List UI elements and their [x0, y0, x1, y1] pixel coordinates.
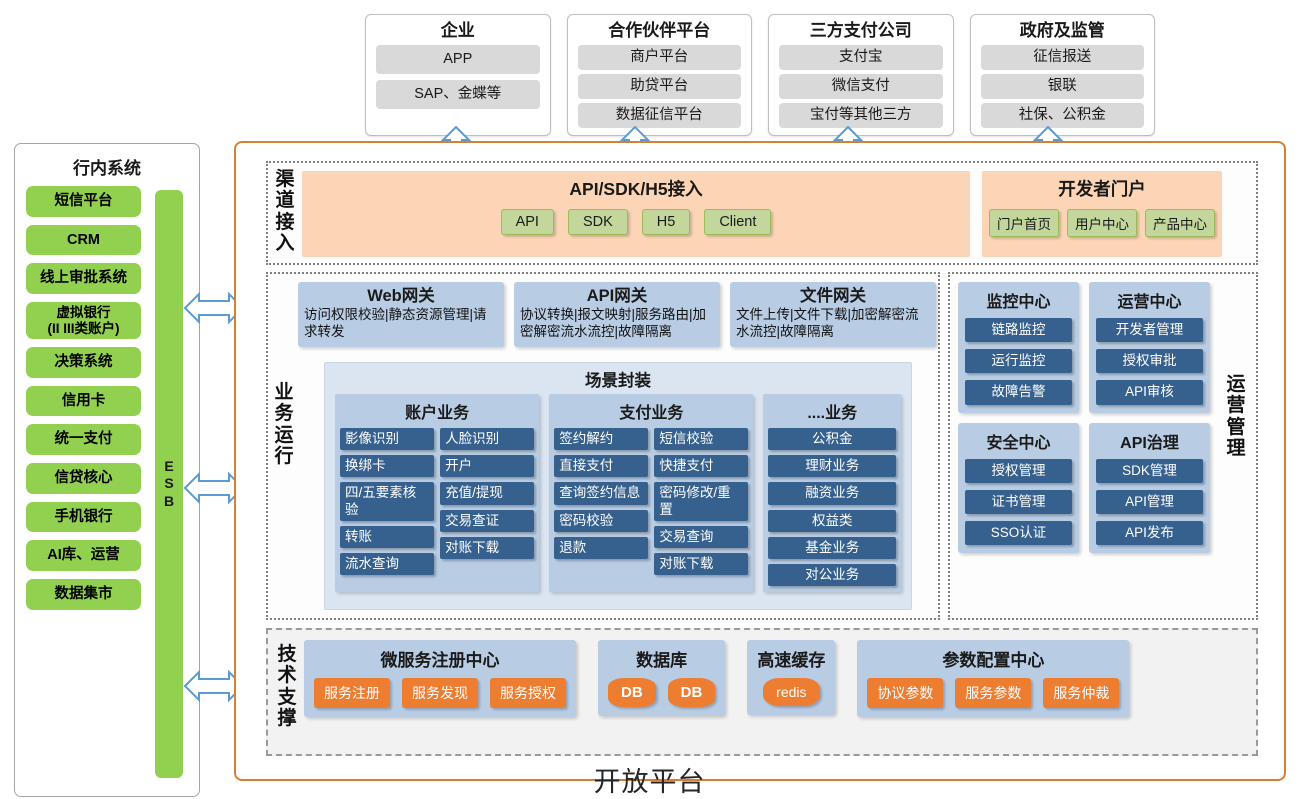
- external-system-box: 企业APPSAP、金蝶等: [365, 14, 551, 136]
- tech-chip[interactable]: 服务发现: [402, 678, 478, 708]
- bank-system-item[interactable]: 信用卡: [26, 386, 141, 417]
- scene-chip[interactable]: 密码修改/重置: [654, 482, 748, 520]
- external-system-item[interactable]: 助贷平台: [578, 74, 742, 99]
- bank-system-item[interactable]: 线上审批系统: [26, 263, 141, 294]
- scene-chip[interactable]: 对账下载: [440, 537, 534, 559]
- technical-support-row: 微服务注册中心服务注册服务发现服务授权数据库DBDB高速缓存redis参数配置中…: [304, 640, 1248, 717]
- external-system-box: 政府及监管征信报送银联社保、公积金: [970, 14, 1156, 136]
- operations-chip[interactable]: API发布: [1096, 521, 1203, 545]
- scene-column: ....业务公积金理财业务融资业务权益类基金业务对公业务: [763, 394, 901, 592]
- portal-chip[interactable]: 用户中心: [1067, 209, 1137, 237]
- external-system-item[interactable]: 宝付等其他三方: [779, 103, 943, 128]
- scene-encapsulation-title: 场景封装: [325, 363, 911, 394]
- scene-chip[interactable]: 查询签约信息: [554, 482, 648, 504]
- esb-letter: B: [164, 493, 174, 511]
- gateway-title: API网关: [520, 286, 714, 307]
- tech-chip[interactable]: 服务参数: [955, 678, 1031, 708]
- tech-chip-row: 服务注册服务发现服务授权: [314, 678, 566, 708]
- api-access-title: API/SDK/H5接入: [302, 171, 970, 201]
- gateway-row: Web网关访问权限校验|静态资源管理|请求转发API网关协议转换|报文映射|服务…: [298, 282, 936, 347]
- in-bank-systems-panel: 行内系统 短信平台CRM线上审批系统虚拟银行(II III类账户)决策系统信用卡…: [14, 143, 200, 797]
- scene-column-title: 支付业务: [554, 397, 748, 428]
- developer-portal-title: 开发者门户: [982, 171, 1222, 201]
- tech-chip[interactable]: 服务授权: [490, 678, 566, 708]
- operations-chip[interactable]: 运行监控: [965, 349, 1072, 373]
- scene-chip[interactable]: 直接支付: [554, 455, 648, 477]
- scene-chip-grid: 公积金理财业务融资业务权益类基金业务对公业务: [768, 428, 896, 586]
- tech-chip[interactable]: 协议参数: [867, 678, 943, 708]
- tech-card: 高速缓存redis: [747, 640, 835, 715]
- gateway-description: 协议转换|报文映射|服务路由|加密解密流水流控|故障隔离: [520, 307, 714, 341]
- in-bank-systems-list: 短信平台CRM线上审批系统虚拟银行(II III类账户)决策系统信用卡统一支付信…: [26, 186, 141, 618]
- external-system-item[interactable]: 微信支付: [779, 74, 943, 99]
- tech-card: 参数配置中心协议参数服务参数服务仲裁: [857, 640, 1129, 717]
- scene-chip[interactable]: 流水查询: [340, 553, 434, 575]
- developer-portal-chip-row: 门户首页用户中心产品中心: [982, 209, 1222, 237]
- operations-management-label: 运营管理: [1223, 374, 1249, 459]
- bank-system-item[interactable]: AI库、运营: [26, 540, 141, 571]
- scene-chip[interactable]: 交易查证: [440, 510, 534, 532]
- access-chip[interactable]: SDK: [568, 209, 628, 235]
- scene-chip[interactable]: 密码校验: [554, 510, 648, 532]
- scene-chip-col: 人脸识别开户充值/提现交易查证对账下载: [440, 428, 534, 575]
- operations-cards-grid: 监控中心链路监控运行监控故障告警运营中心开发者管理授权审批API审核安全中心授权…: [958, 282, 1210, 553]
- operations-chip[interactable]: API审核: [1096, 380, 1203, 404]
- in-bank-systems-title: 行内系统: [15, 154, 199, 179]
- scene-column-title: 账户业务: [340, 397, 534, 428]
- esb-letter: S: [164, 475, 173, 493]
- operations-management-section: 运营管理 监控中心链路监控运行监控故障告警运营中心开发者管理授权审批API审核安…: [948, 272, 1258, 620]
- operations-card-title: 运营中心: [1096, 286, 1203, 318]
- scene-chip[interactable]: 基金业务: [768, 537, 896, 559]
- tech-card-title: 微服务注册中心: [314, 644, 566, 678]
- tech-chip[interactable]: 服务仲裁: [1043, 678, 1119, 708]
- scene-column-title: ....业务: [768, 397, 896, 428]
- scene-encapsulation-card: 场景封装 账户业务影像识别换绑卡四/五要素核验转账流水查询人脸识别开户充值/提现…: [324, 362, 912, 610]
- api-sdk-h5-access-card: API/SDK/H5接入 APISDKH5Client: [302, 171, 970, 257]
- bank-system-item[interactable]: 手机银行: [26, 502, 141, 533]
- external-system-item[interactable]: 社保、公积金: [981, 103, 1145, 128]
- gateway-title: Web网关: [304, 286, 498, 307]
- external-system-item[interactable]: APP: [376, 45, 540, 74]
- scene-chip[interactable]: 充值/提现: [440, 482, 534, 504]
- channel-access-section: 渠道接入 API/SDK/H5接入 APISDKH5Client 开发者门户 门…: [266, 161, 1258, 265]
- operations-card: API治理SDK管理API管理API发布: [1089, 423, 1210, 554]
- bank-system-item[interactable]: 数据集市: [26, 579, 141, 610]
- operations-card-title: API治理: [1096, 427, 1203, 459]
- gateway-card[interactable]: 文件网关文件上传|文件下载|加密解密流水流控|故障隔离: [730, 282, 936, 347]
- external-system-item[interactable]: 支付宝: [779, 45, 943, 70]
- portal-chip[interactable]: 产品中心: [1145, 209, 1215, 237]
- tech-chip-row: DBDB: [608, 678, 715, 707]
- scene-columns: 账户业务影像识别换绑卡四/五要素核验转账流水查询人脸识别开户充值/提现交易查证对…: [325, 394, 911, 592]
- gateway-description: 访问权限校验|静态资源管理|请求转发: [304, 307, 498, 341]
- external-system-item[interactable]: 银联: [981, 74, 1145, 99]
- scene-chip[interactable]: 交易查询: [654, 526, 748, 548]
- scene-chip[interactable]: 对公业务: [768, 564, 896, 586]
- scene-chip[interactable]: 转账: [340, 526, 434, 548]
- esb-letter: E: [164, 458, 173, 476]
- operations-chip[interactable]: SSO认证: [965, 521, 1072, 545]
- bank-system-item[interactable]: 信贷核心: [26, 463, 141, 494]
- gateway-title: 文件网关: [736, 286, 930, 307]
- external-system-title: 企业: [376, 20, 540, 42]
- platform-title: 开放平台: [0, 760, 1299, 799]
- operations-chip[interactable]: 链路监控: [965, 318, 1072, 342]
- business-running-section: 业务运行 Web网关访问权限校验|静态资源管理|请求转发API网关协议转换|报文…: [266, 272, 940, 620]
- channel-access-label: 渠道接入: [272, 169, 298, 254]
- operations-chip[interactable]: 证书管理: [965, 490, 1072, 514]
- scene-chip[interactable]: 短信校验: [654, 428, 748, 450]
- access-chip[interactable]: H5: [642, 209, 691, 235]
- gateway-card[interactable]: Web网关访问权限校验|静态资源管理|请求转发: [298, 282, 504, 347]
- operations-chip[interactable]: 授权审批: [1096, 349, 1203, 373]
- scene-chip[interactable]: 换绑卡: [340, 455, 434, 477]
- external-system-title: 合作伙伴平台: [578, 20, 742, 42]
- external-system-box: 合作伙伴平台商户平台助贷平台数据征信平台: [567, 14, 753, 136]
- external-system-box: 三方支付公司支付宝微信支付宝付等其他三方: [768, 14, 954, 136]
- external-system-item[interactable]: 征信报送: [981, 45, 1145, 70]
- operations-card-title: 安全中心: [965, 427, 1072, 459]
- scene-column: 支付业务签约解约直接支付查询签约信息密码校验退款短信校验快捷支付密码修改/重置交…: [549, 394, 753, 592]
- tech-card-title: 高速缓存: [757, 644, 825, 678]
- scene-chip-col: 短信校验快捷支付密码修改/重置交易查询对账下载: [654, 428, 748, 575]
- external-system-item[interactable]: SAP、金蝶等: [376, 80, 540, 109]
- database-cylinder[interactable]: DB: [608, 678, 656, 707]
- scene-chip-col: 公积金理财业务融资业务权益类基金业务对公业务: [768, 428, 896, 586]
- technical-support-section: 技术支撑 微服务注册中心服务注册服务发现服务授权数据库DBDB高速缓存redis…: [266, 628, 1258, 756]
- technical-support-label: 技术支撑: [274, 644, 300, 729]
- external-system-item[interactable]: 数据征信平台: [578, 103, 742, 128]
- esb-bar: ESB: [155, 190, 183, 778]
- developer-portal-card: 开发者门户 门户首页用户中心产品中心: [982, 171, 1222, 257]
- tech-chip[interactable]: 服务注册: [314, 678, 390, 708]
- access-chip[interactable]: Client: [704, 209, 771, 235]
- scene-chip-col: 签约解约直接支付查询签约信息密码校验退款: [554, 428, 648, 575]
- bank-system-item[interactable]: 虚拟银行(II III类账户): [26, 302, 141, 339]
- operations-card: 监控中心链路监控运行监控故障告警: [958, 282, 1079, 413]
- scene-chip[interactable]: 开户: [440, 455, 534, 477]
- bank-system-item[interactable]: CRM: [26, 225, 141, 256]
- operations-card-title: 监控中心: [965, 286, 1072, 318]
- database-cylinder[interactable]: DB: [668, 678, 716, 707]
- business-running-label: 业务运行: [271, 382, 297, 467]
- operations-chip[interactable]: 故障告警: [965, 380, 1072, 404]
- gateway-card[interactable]: API网关协议转换|报文映射|服务路由|加密解密流水流控|故障隔离: [514, 282, 720, 347]
- tech-card: 微服务注册中心服务注册服务发现服务授权: [304, 640, 576, 717]
- bank-system-item[interactable]: 决策系统: [26, 347, 141, 378]
- scene-chip[interactable]: 快捷支付: [654, 455, 748, 477]
- external-system-item[interactable]: 商户平台: [578, 45, 742, 70]
- scene-chip-col: 影像识别换绑卡四/五要素核验转账流水查询: [340, 428, 434, 575]
- operations-chip[interactable]: 授权管理: [965, 459, 1072, 483]
- scene-column: 账户业务影像识别换绑卡四/五要素核验转账流水查询人脸识别开户充值/提现交易查证对…: [335, 394, 539, 592]
- tech-card: 数据库DBDB: [598, 640, 725, 716]
- scene-chip[interactable]: 权益类: [768, 510, 896, 532]
- scene-chip[interactable]: 退款: [554, 537, 648, 559]
- external-system-title: 三方支付公司: [779, 20, 943, 42]
- tech-chip-row: 协议参数服务参数服务仲裁: [867, 678, 1119, 708]
- gateway-description: 文件上传|文件下载|加密解密流水流控|故障隔离: [736, 307, 930, 341]
- operations-card: 安全中心授权管理证书管理SSO认证: [958, 423, 1079, 554]
- scene-chip[interactable]: 人脸识别: [440, 428, 534, 450]
- redis-cylinder[interactable]: redis: [763, 678, 819, 706]
- scene-chip[interactable]: 四/五要素核验: [340, 482, 434, 520]
- tech-card-title: 数据库: [608, 644, 715, 678]
- tech-chip-row: redis: [757, 678, 825, 706]
- scene-chip[interactable]: 对账下载: [654, 553, 748, 575]
- tech-card-title: 参数配置中心: [867, 644, 1119, 678]
- scene-chip[interactable]: 签约解约: [554, 428, 648, 450]
- operations-card: 运营中心开发者管理授权审批API审核: [1089, 282, 1210, 413]
- scene-chip[interactable]: 公积金: [768, 428, 896, 450]
- operations-chip[interactable]: SDK管理: [1096, 459, 1203, 483]
- scene-chip-grid: 影像识别换绑卡四/五要素核验转账流水查询人脸识别开户充值/提现交易查证对账下载: [340, 428, 534, 575]
- scene-chip[interactable]: 理财业务: [768, 455, 896, 477]
- operations-chip[interactable]: 开发者管理: [1096, 318, 1203, 342]
- scene-chip-grid: 签约解约直接支付查询签约信息密码校验退款短信校验快捷支付密码修改/重置交易查询对…: [554, 428, 748, 575]
- bank-system-item[interactable]: 统一支付: [26, 424, 141, 455]
- portal-chip[interactable]: 门户首页: [989, 209, 1059, 237]
- scene-chip[interactable]: 影像识别: [340, 428, 434, 450]
- api-access-chip-row: APISDKH5Client: [302, 209, 970, 235]
- access-chip[interactable]: API: [501, 209, 554, 235]
- external-systems-row: 企业APPSAP、金蝶等合作伙伴平台商户平台助贷平台数据征信平台三方支付公司支付…: [365, 14, 1155, 136]
- bank-system-item[interactable]: 短信平台: [26, 186, 141, 217]
- scene-chip[interactable]: 融资业务: [768, 482, 896, 504]
- operations-chip[interactable]: API管理: [1096, 490, 1203, 514]
- external-system-title: 政府及监管: [981, 20, 1145, 42]
